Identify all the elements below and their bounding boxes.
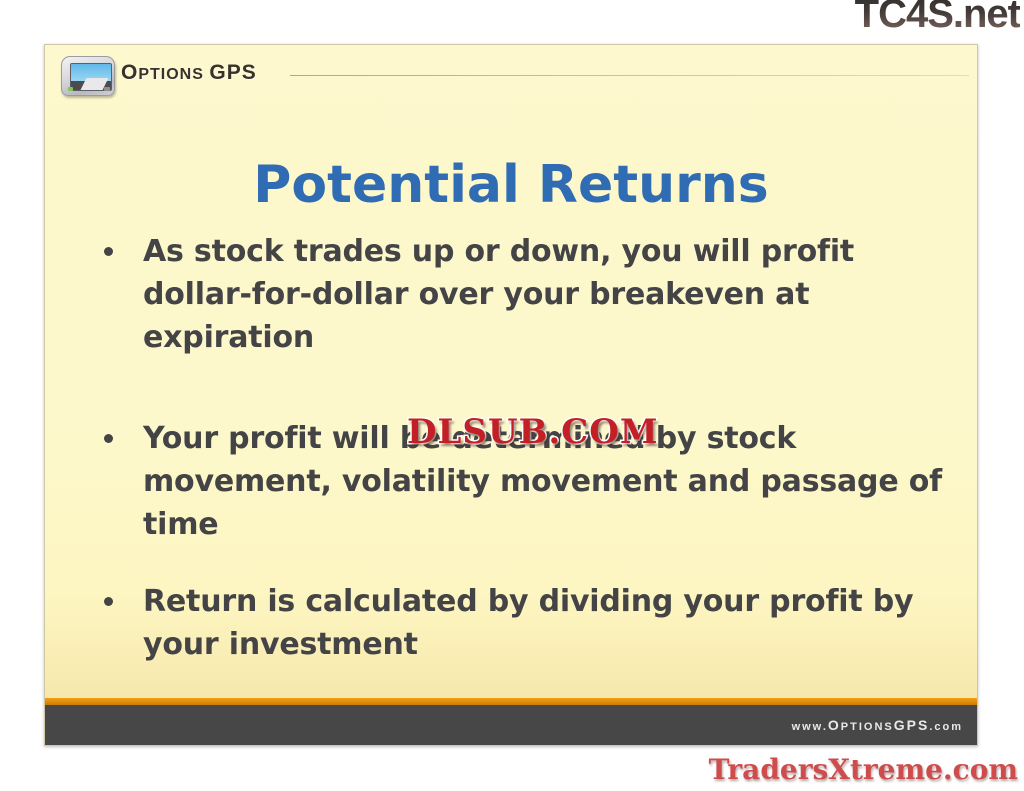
footer-url-text: www.OPTIONSGPS.com (792, 717, 963, 733)
tradersxtreme-watermark: TradersXtreme.com (709, 753, 1018, 787)
status-led-icon (68, 87, 73, 91)
brand-logo-gps: GPS (209, 61, 256, 84)
footer-url-com: .com (929, 721, 963, 733)
footer-accent-bar (45, 698, 977, 705)
footer-url-gps: GPS (894, 717, 930, 733)
bullet-dot-icon (104, 247, 113, 256)
bullet-list: As stock trades up or down, you will pro… (95, 230, 957, 692)
header-divider (290, 75, 969, 76)
device-button-icon (104, 87, 110, 91)
bullet-dot-icon (104, 434, 113, 443)
footer-url-o: O (828, 717, 841, 733)
gps-device-icon (59, 55, 117, 99)
page-title: Potential Returns (45, 155, 977, 215)
bullet-3-text: Return is calculated by dividing your pr… (143, 580, 957, 666)
bullet-1-text: As stock trades up or down, you will pro… (143, 230, 957, 359)
gps-device-body (61, 56, 115, 96)
dlsub-watermark: DLSUB.COM (407, 413, 658, 451)
list-item: Return is calculated by dividing your pr… (95, 580, 957, 666)
slide-header: OPTIONS GPS (45, 45, 977, 107)
brand-logo-text: OPTIONS GPS (121, 61, 257, 85)
brand-logo-ptions: PTIONS (138, 66, 209, 83)
presentation-slide: OPTIONS GPS Potential Returns As stock t… (44, 44, 978, 746)
list-item: As stock trades up or down, you will pro… (95, 230, 957, 359)
slide-footer: www.OPTIONSGPS.com (45, 705, 977, 745)
footer-url-ptions: PTIONS (841, 721, 894, 733)
bullet-dot-icon (104, 597, 113, 606)
tc4s-watermark: TC4S.net (855, 0, 1020, 36)
footer-url-www: www. (792, 721, 828, 733)
brand-logo-o: O (121, 61, 138, 84)
